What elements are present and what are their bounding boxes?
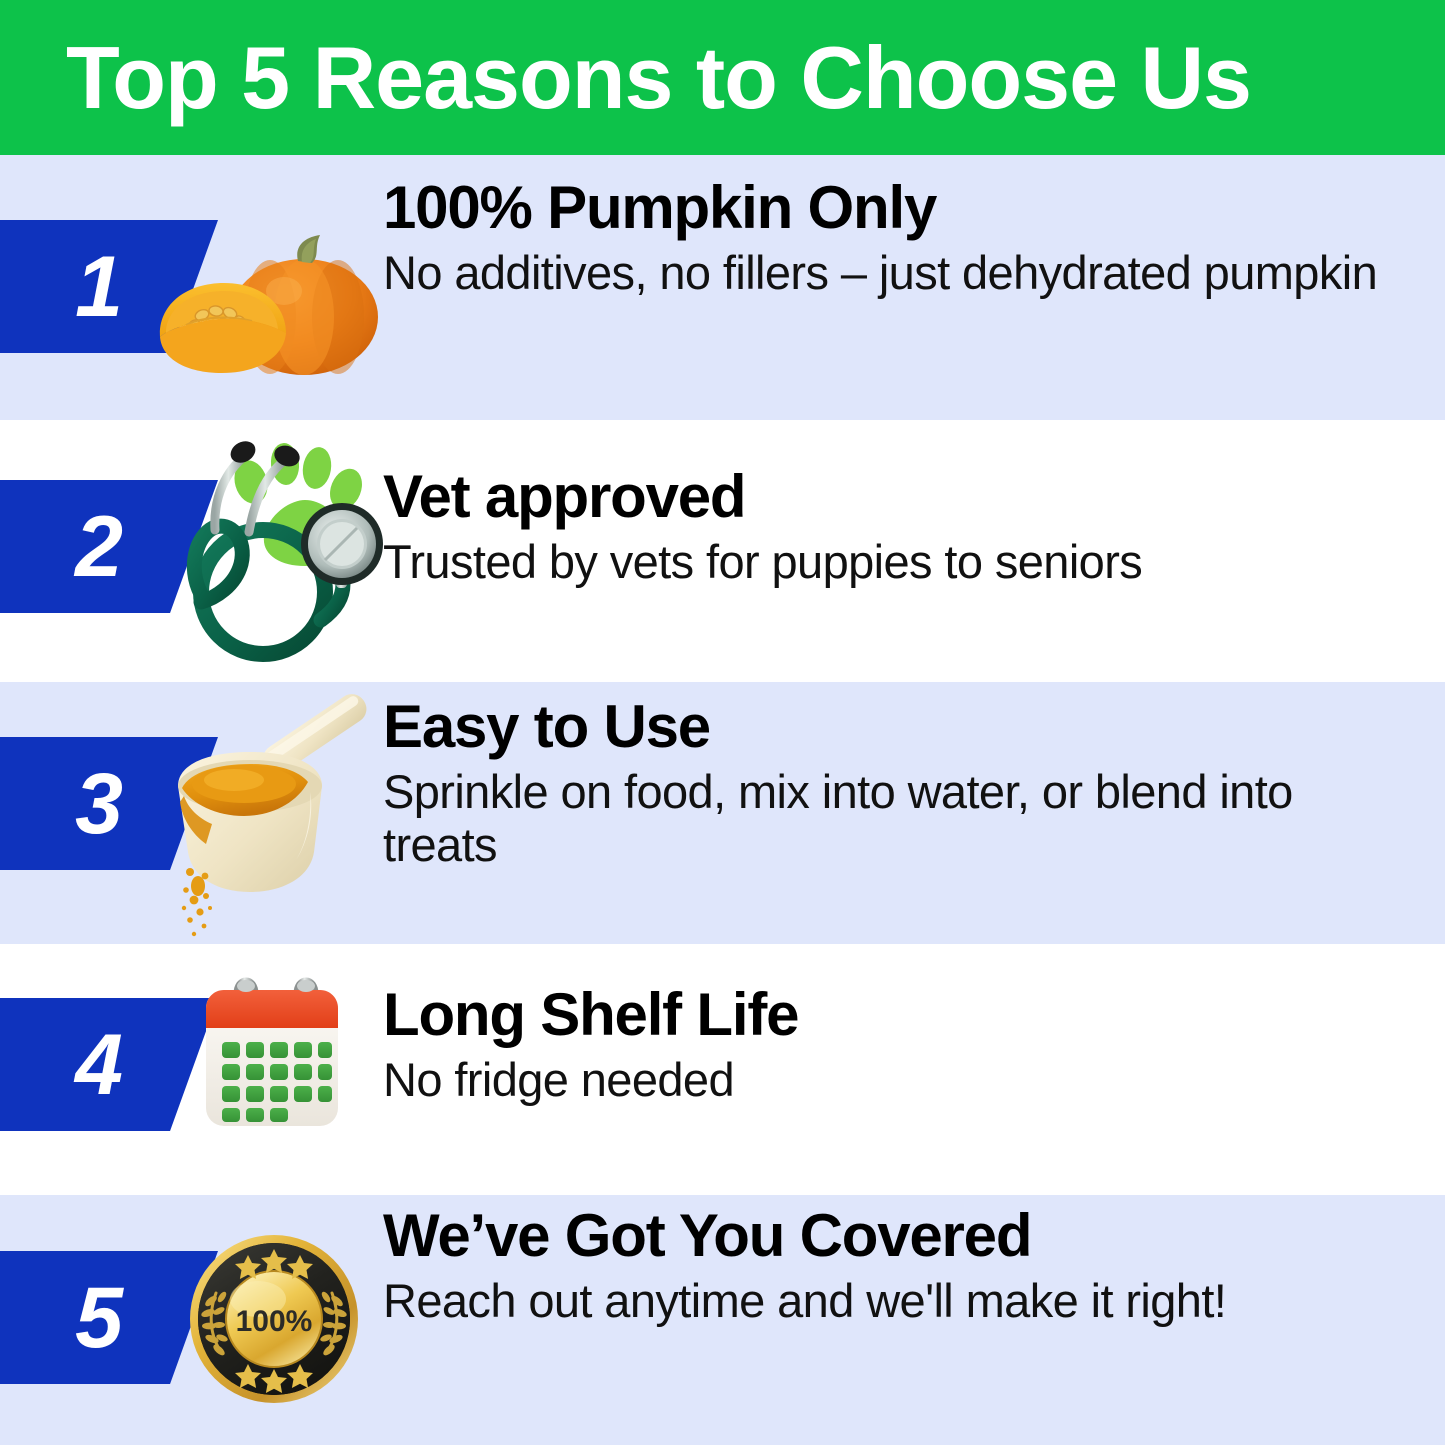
reason-number-3: 3	[75, 761, 123, 847]
reason-body-1: No additives, no fillers – just dehydrat…	[383, 247, 1413, 300]
reason-text-5: We’ve Got You Covered Reach out anytime …	[383, 1205, 1413, 1328]
reason-number-2: 2	[75, 504, 123, 590]
reason-title-4: Long Shelf Life	[383, 984, 1413, 1046]
reason-row-4: 4	[0, 944, 1445, 1195]
number-banner-5: 5	[0, 1251, 218, 1384]
reason-row-3: 3	[0, 682, 1445, 944]
reason-text-1: 100% Pumpkin Only No additives, no fille…	[383, 177, 1413, 300]
reason-text-4: Long Shelf Life No fridge needed	[383, 984, 1413, 1107]
reason-number-1: 1	[75, 244, 123, 330]
reason-row-2: 2	[0, 420, 1445, 682]
page-title: Top 5 Reasons to Choose Us	[66, 34, 1251, 122]
stethoscope-paw-icon	[135, 432, 385, 670]
reason-title-2: Vet approved	[383, 466, 1413, 528]
reason-title-3: Easy to Use	[383, 696, 1413, 758]
reason-row-1: 1	[0, 155, 1445, 420]
reason-row-5: 5	[0, 1195, 1445, 1445]
measuring-scoop-icon	[160, 690, 390, 940]
number-banner-4: 4	[0, 998, 218, 1131]
reason-text-2: Vet approved Trusted by vets for puppies…	[383, 466, 1413, 589]
reason-body-2: Trusted by vets for puppies to seniors	[383, 536, 1413, 589]
reason-number-4: 4	[75, 1022, 123, 1108]
pumpkin-icon	[150, 203, 380, 378]
reason-title-5: We’ve Got You Covered	[383, 1205, 1413, 1267]
reason-body-3: Sprinkle on food, mix into water, or ble…	[383, 766, 1413, 871]
infographic-page: Top 5 Reasons to Choose Us 1	[0, 0, 1445, 1445]
gold-guarantee-badge-icon: 100%	[188, 1233, 360, 1405]
reason-title-1: 100% Pumpkin Only	[383, 177, 1413, 239]
reason-body-4: No fridge needed	[383, 1054, 1413, 1107]
header-banner: Top 5 Reasons to Choose Us	[0, 0, 1445, 155]
reason-body-5: Reach out anytime and we'll make it righ…	[383, 1275, 1413, 1328]
reason-text-3: Easy to Use Sprinkle on food, mix into w…	[383, 696, 1413, 872]
badge-center-label: 100%	[236, 1305, 313, 1338]
reason-number-5: 5	[75, 1275, 123, 1361]
calendar-icon	[192, 964, 352, 1142]
